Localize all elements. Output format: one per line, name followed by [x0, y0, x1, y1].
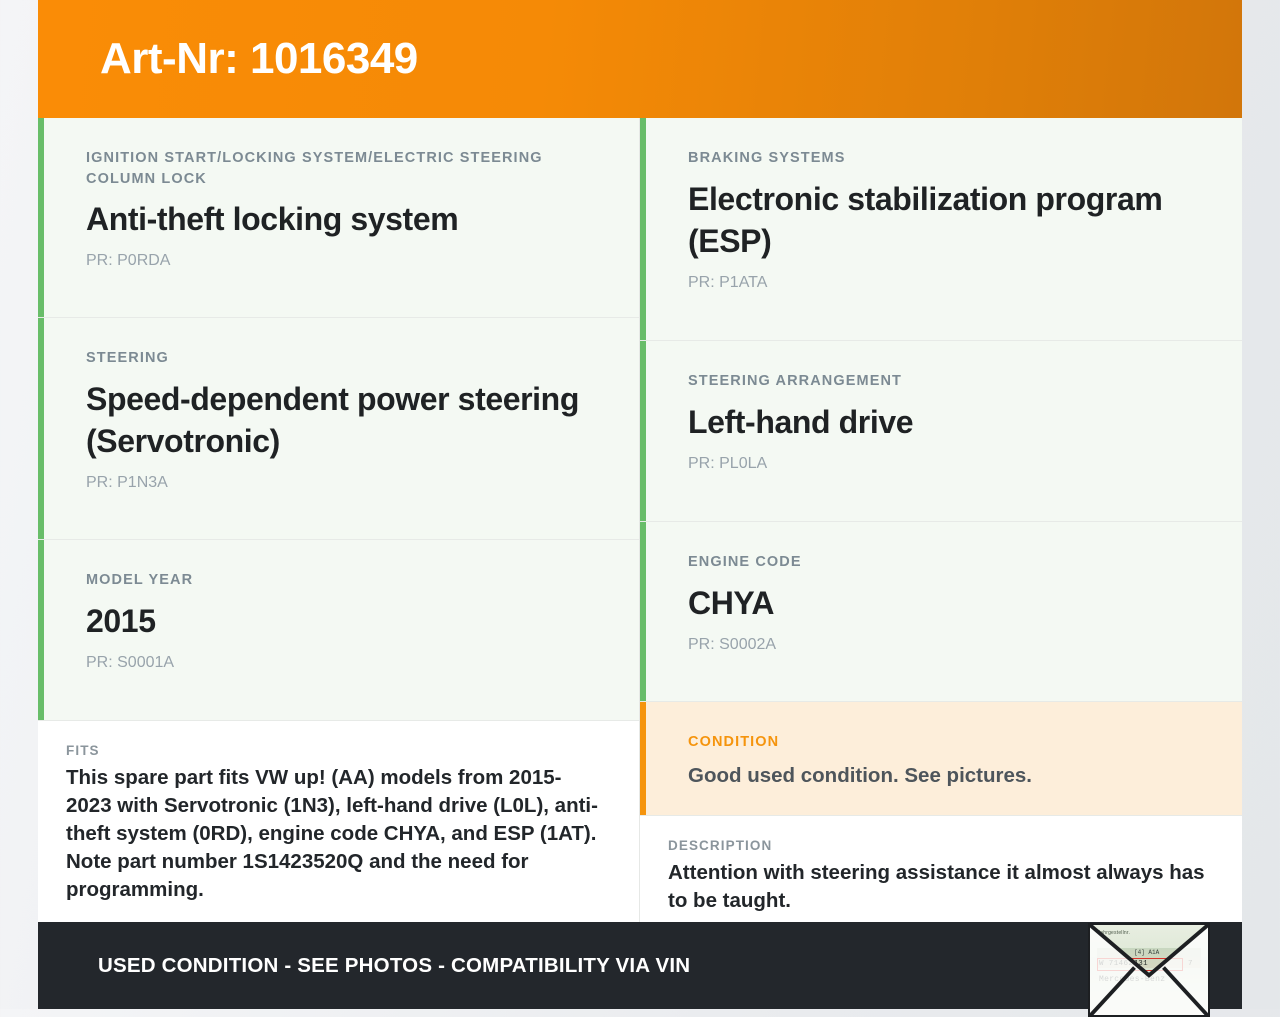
fits-label: FITS: [66, 743, 605, 758]
fits-block: FITS This spare part fits VW up! (AA) mo…: [38, 721, 639, 927]
spec-card-steering: STEERING Speed-dependent power steering …: [38, 318, 639, 540]
page-title: Art-Nr: 1016349: [100, 37, 418, 81]
description-block: DESCRIPTION Attention with steering assi…: [640, 816, 1242, 939]
spec-value: Anti-theft locking system: [86, 198, 605, 240]
vin-document-thumbnail[interactable]: Fahrgestellnr. [4] A1A W 71462J31 7 Merc…: [1088, 923, 1210, 1017]
footer-text: USED CONDITION - SEE PHOTOS - COMPATIBIL…: [98, 954, 690, 978]
spec-label: MODEL YEAR: [86, 570, 605, 591]
spec-label: ENGINE CODE: [688, 552, 1208, 573]
spec-card-steering-arrangement: STEERING ARRANGEMENT Left-hand drive PR:…: [640, 341, 1242, 522]
condition-body: Good used condition. See pictures.: [688, 762, 1208, 790]
spec-label: STEERING: [86, 348, 605, 369]
description-label: DESCRIPTION: [668, 838, 1208, 853]
spec-columns: IGNITION START/LOCKING SYSTEM/ELECTRIC S…: [38, 118, 1242, 922]
spec-code: PR: P1N3A: [86, 473, 605, 494]
left-column: IGNITION START/LOCKING SYSTEM/ELECTRIC S…: [38, 118, 640, 922]
spec-code: PR: P1ATA: [688, 273, 1208, 294]
description-body: Attention with steering assistance it al…: [668, 859, 1208, 915]
spec-value: Electronic stabilization program (ESP): [688, 178, 1208, 262]
spec-value: Speed-dependent power steering (Servotro…: [86, 378, 605, 462]
spec-code: PR: S0002A: [688, 635, 1208, 656]
spec-card-model-year: MODEL YEAR 2015 PR: S0001A: [38, 540, 639, 721]
footer-bar: USED CONDITION - SEE PHOTOS - COMPATIBIL…: [38, 922, 1242, 1009]
spec-code: PR: S0001A: [86, 653, 605, 674]
spec-label: STEERING ARRANGEMENT: [688, 371, 1208, 392]
condition-label: CONDITION: [688, 732, 1208, 753]
header-bar: Art-Nr: 1016349: [38, 0, 1242, 118]
listing-card: Art-Nr: 1016349 IGNITION START/LOCKING S…: [38, 0, 1242, 1009]
fits-body: This spare part fits VW up! (AA) models …: [66, 764, 605, 903]
spec-card-engine-code: ENGINE CODE CHYA PR: S0002A: [640, 522, 1242, 702]
spec-code: PR: P0RDA: [86, 251, 605, 272]
spec-value: Left-hand drive: [688, 401, 1208, 443]
spec-label: IGNITION START/LOCKING SYSTEM/ELECTRIC S…: [86, 148, 605, 189]
spec-card-braking: BRAKING SYSTEMS Electronic stabilization…: [640, 118, 1242, 341]
spec-value: 2015: [86, 600, 605, 642]
right-column: BRAKING SYSTEMS Electronic stabilization…: [640, 118, 1242, 922]
spec-label: BRAKING SYSTEMS: [688, 148, 1208, 169]
spec-value: CHYA: [688, 582, 1208, 624]
spec-card-ignition: IGNITION START/LOCKING SYSTEM/ELECTRIC S…: [38, 118, 639, 318]
envelope-icon: [1090, 925, 1208, 1016]
spec-code: PR: PL0LA: [688, 454, 1208, 475]
condition-card: CONDITION Good used condition. See pictu…: [640, 702, 1242, 816]
